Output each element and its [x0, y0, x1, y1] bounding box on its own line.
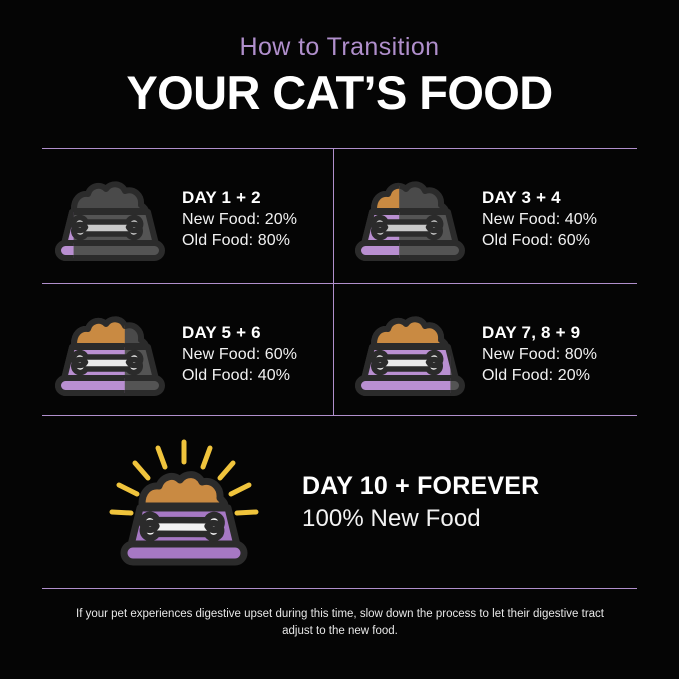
step-card-day-1-2: DAY 1 + 2 New Food: 20% Old Food: 80%	[48, 163, 333, 275]
step-card-day-7-8-9: DAY 7, 8 + 9 New Food: 80% Old Food: 20%	[348, 298, 633, 410]
new-food-line: New Food: 20%	[182, 209, 297, 230]
bowl-icon-day-1-2	[48, 169, 176, 269]
cat-food-bowl-icon	[348, 304, 476, 404]
divider-top	[42, 148, 637, 149]
day-label: DAY 5 + 6	[182, 322, 297, 343]
old-food-line: Old Food: 60%	[482, 230, 597, 251]
infographic-page: How to Transition YOUR CAT’S FOOD	[0, 0, 679, 679]
bone-icon	[373, 353, 440, 373]
step-card-day-3-4: DAY 3 + 4 New Food: 40% Old Food: 60%	[348, 163, 633, 275]
footer-note: If your pet experiences digestive upset …	[70, 606, 610, 641]
bowl-icon-day-7-8-9	[348, 304, 476, 404]
divider-quadrant-bottom	[42, 415, 637, 416]
subtitle: How to Transition	[0, 34, 679, 62]
old-food-line: Old Food: 40%	[182, 365, 297, 386]
bone-icon	[373, 218, 440, 238]
step-text-day-5-6: DAY 5 + 6 New Food: 60% Old Food: 40%	[182, 322, 297, 385]
new-food-line: New Food: 40%	[482, 209, 597, 230]
header: How to Transition YOUR CAT’S FOOD	[0, 34, 679, 117]
final-sub-label: 100% New Food	[302, 503, 539, 534]
new-food-line: New Food: 60%	[182, 344, 297, 365]
step-card-day-5-6: DAY 5 + 6 New Food: 60% Old Food: 40%	[48, 298, 333, 410]
divider-vertical-center	[333, 148, 334, 415]
cat-food-bowl-shining-icon	[104, 432, 264, 572]
final-step-text: DAY 10 + FOREVER 100% New Food	[302, 470, 539, 534]
day-label: DAY 3 + 4	[482, 187, 597, 208]
divider-footer	[42, 588, 637, 589]
bowl-icon-day-5-6	[48, 304, 176, 404]
bowl-icon-day-3-4	[348, 169, 476, 269]
cat-food-bowl-icon	[48, 169, 176, 269]
day-label: DAY 7, 8 + 9	[482, 322, 597, 343]
step-card-day-10-forever: DAY 10 + FOREVER 100% New Food	[42, 432, 637, 572]
old-food-line: Old Food: 20%	[482, 365, 597, 386]
page-title: YOUR CAT’S FOOD	[0, 68, 679, 117]
cat-food-bowl-icon	[48, 304, 176, 404]
new-food-line: New Food: 80%	[482, 344, 597, 365]
final-day-label: DAY 10 + FOREVER	[302, 470, 539, 503]
bone-icon	[73, 218, 140, 238]
old-food-line: Old Food: 80%	[182, 230, 297, 251]
day-label: DAY 1 + 2	[182, 187, 297, 208]
step-text-day-3-4: DAY 3 + 4 New Food: 40% Old Food: 60%	[482, 187, 597, 250]
divider-middle	[42, 283, 637, 284]
bowl-icon-day-10-forever	[104, 432, 264, 572]
step-text-day-1-2: DAY 1 + 2 New Food: 20% Old Food: 80%	[182, 187, 297, 250]
step-text-day-7-8-9: DAY 7, 8 + 9 New Food: 80% Old Food: 20%	[482, 322, 597, 385]
bone-icon	[73, 353, 140, 373]
bone-icon	[142, 515, 221, 538]
cat-food-bowl-icon	[348, 169, 476, 269]
